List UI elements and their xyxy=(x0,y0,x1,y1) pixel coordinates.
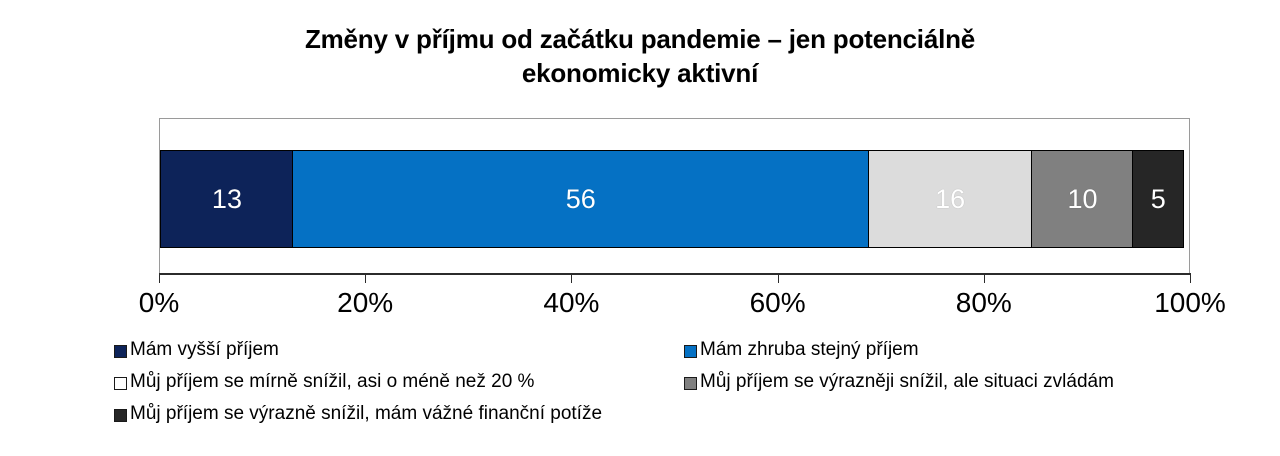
x-axis-tick-1 xyxy=(365,275,366,283)
legend-item-3[interactable]: Můj příjem se mírně snížil, asi o méně n… xyxy=(114,371,684,393)
stacked-bar: 13 56 16 10 5 xyxy=(160,150,1190,248)
legend-swatch-icon-3 xyxy=(114,377,127,390)
x-axis-tick-label-2: 40% xyxy=(543,287,599,319)
bar-segment-2[interactable]: 56 xyxy=(292,150,869,248)
legend-label-5: Můj příjem se výrazně snížil, mám vážné … xyxy=(130,403,602,425)
x-axis-tick-3 xyxy=(778,275,779,283)
x-axis-line xyxy=(159,273,1191,275)
legend-item-4[interactable]: Můj příjem se výrazněji snížil, ale situ… xyxy=(684,371,1254,393)
legend-swatch-icon-2 xyxy=(684,345,697,358)
bar-segment-1-value: 13 xyxy=(212,186,242,213)
legend-swatch-icon-4 xyxy=(684,377,697,390)
x-axis-tick-2 xyxy=(571,275,572,283)
legend-item-2[interactable]: Mám zhruba stejný příjem xyxy=(684,339,1254,361)
bar-segment-5-value: 5 xyxy=(1151,186,1166,213)
bar-segment-3[interactable]: 16 xyxy=(868,150,1033,248)
bar-segment-3-value: 16 xyxy=(935,186,965,213)
legend-item-1[interactable]: Mám vyšší příjem xyxy=(114,339,684,361)
x-axis-tick-label-5: 100% xyxy=(1154,287,1226,319)
chart-title-line-2: ekonomicky aktivní xyxy=(0,56,1280,90)
bar-segment-4-value: 10 xyxy=(1067,186,1097,213)
x-axis-tick-4 xyxy=(984,275,985,283)
x-axis-tick-label-1: 20% xyxy=(337,287,393,319)
legend-row-1: Mám vyšší příjem Mám zhruba stejný příje… xyxy=(114,334,1254,366)
chart-legend: Mám vyšší příjem Mám zhruba stejný příje… xyxy=(114,334,1254,430)
bar-segment-5[interactable]: 5 xyxy=(1132,150,1184,248)
legend-swatch-icon-1 xyxy=(114,345,127,358)
legend-row-2: Můj příjem se mírně snížil, asi o méně n… xyxy=(114,366,1254,398)
legend-label-4: Můj příjem se výrazněji snížil, ale situ… xyxy=(700,371,1114,393)
legend-item-5[interactable]: Můj příjem se výrazně snížil, mám vážné … xyxy=(114,403,684,425)
bar-segment-4[interactable]: 10 xyxy=(1031,150,1134,248)
x-axis-tick-label-0: 0% xyxy=(139,287,179,319)
x-axis-tick-0 xyxy=(159,275,160,283)
legend-swatch-icon-5 xyxy=(114,409,127,422)
x-axis-tick-label-4: 80% xyxy=(956,287,1012,319)
legend-label-1: Mám vyšší příjem xyxy=(130,339,279,361)
x-axis-tick-label-3: 60% xyxy=(750,287,806,319)
chart-title-line-1: Změny v příjmu od začátku pandemie – jen… xyxy=(0,22,1280,56)
bar-segment-2-value: 56 xyxy=(566,186,596,213)
legend-label-2: Mám zhruba stejný příjem xyxy=(700,339,919,361)
legend-label-3: Můj příjem se mírně snížil, asi o méně n… xyxy=(130,371,534,393)
bar-segment-1[interactable]: 13 xyxy=(160,150,294,248)
chart-title: Změny v příjmu od začátku pandemie – jen… xyxy=(0,22,1280,90)
legend-row-3: Můj příjem se výrazně snížil, mám vážné … xyxy=(114,398,1254,430)
x-axis-tick-5 xyxy=(1190,275,1191,283)
